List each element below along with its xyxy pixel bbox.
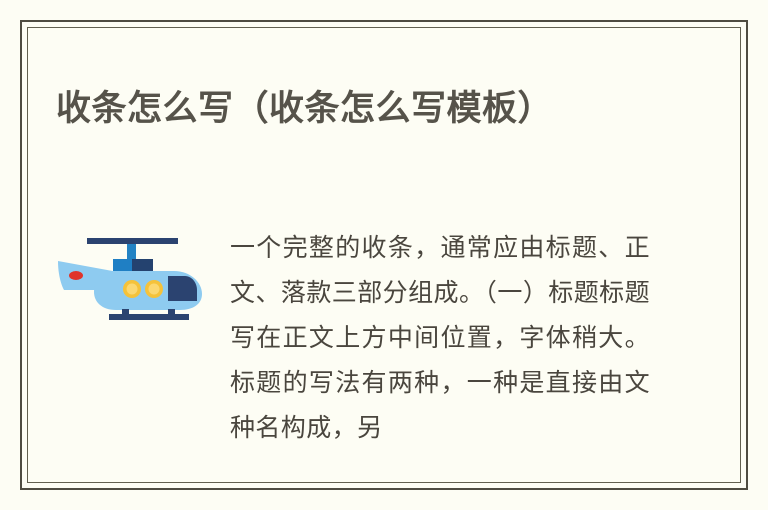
document-page: 收条怎么写（收条怎么写模板） [0, 0, 768, 510]
skid-rail [109, 314, 189, 320]
cockpit-window [168, 276, 197, 301]
illustration-container [28, 200, 228, 470]
helicopter-icon [56, 228, 206, 320]
porthole-rear-core [149, 284, 160, 295]
rotor-blade [87, 238, 178, 244]
page-title: 收条怎么写（收条怎么写模板） [56, 85, 696, 133]
tail-light [69, 271, 83, 280]
porthole-front-core [127, 284, 138, 295]
rotor-hub-right [132, 259, 153, 273]
article-content: 一个完整的收条，通常应由标题、正文、落款三部分组成。（一）标题标题写在正文上方中… [28, 200, 740, 470]
rotor-hub-left [113, 259, 132, 273]
article-body-text: 一个完整的收条，通常应由标题、正文、落款三部分组成。（一）标题标题写在正文上方中… [228, 225, 680, 450]
rotor-mast [127, 244, 136, 261]
